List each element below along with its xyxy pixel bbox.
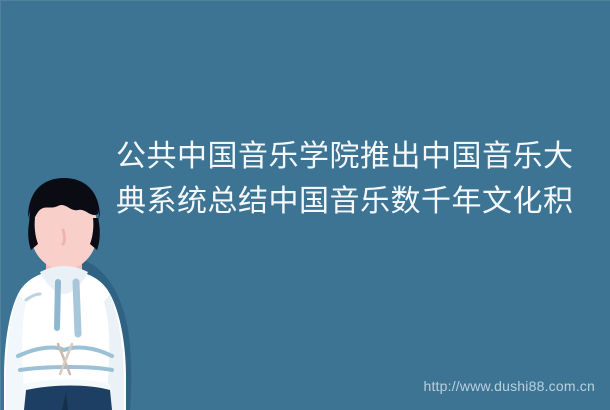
pants (24, 386, 112, 410)
article-banner: 公共中国音乐学院推出中国音乐大典系统总结中国音乐数千年文化积 http://ww… (0, 0, 610, 410)
drawstring-left (57, 282, 58, 328)
headline-text: 公共中国音乐学院推出中国音乐大典系统总结中国音乐数千年文化积 (116, 134, 586, 224)
watermark-url: http://www.dushi88.com.cn (423, 378, 595, 394)
nose (63, 230, 65, 244)
drawstring-right (76, 282, 78, 334)
